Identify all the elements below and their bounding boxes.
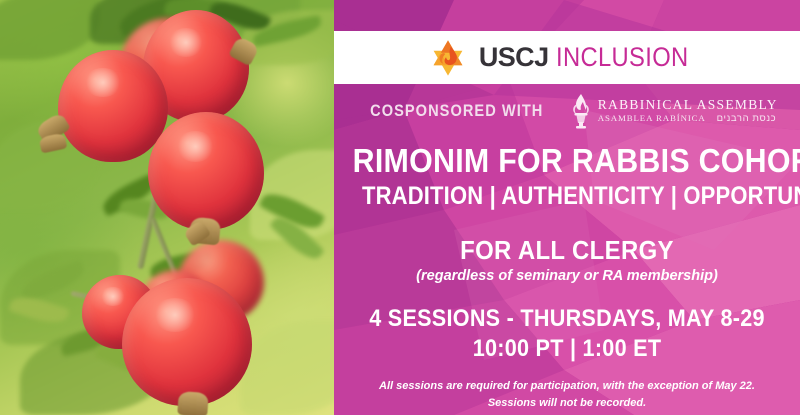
ra-name-he: כנסת הרבנים	[717, 114, 777, 124]
uscj-star-of-david-flame-icon	[428, 38, 468, 78]
fineprint: All sessions are required for participat…	[334, 378, 800, 412]
brand-band: USCJ INCLUSION	[334, 31, 800, 84]
panel-content: COSPONSORED WITH RABBINICAL ASSEMBLY	[334, 84, 800, 415]
headline: RIMONIM FOR RABBIS COHORT:	[353, 142, 782, 180]
ra-name-en: RABBINICAL ASSEMBLY	[598, 98, 778, 112]
info-panel: USCJ INCLUSION COSPONSORED WITH	[334, 0, 800, 415]
wordmark-inclusion: INCLUSION	[556, 44, 689, 71]
cosponsored-with-label: COSPONSORED WITH	[370, 101, 543, 121]
fineprint-line-2: Sessions will not be recorded.	[334, 395, 800, 412]
subheadline: TRADITION | AUTHENTICITY | OPPORTUNITY	[362, 182, 772, 211]
rabbinical-assembly-torch-icon	[570, 93, 592, 129]
fineprint-line-1: All sessions are required for participat…	[334, 378, 800, 395]
flyer-container: USCJ INCLUSION COSPONSORED WITH	[0, 0, 800, 415]
rabbinical-assembly-text: RABBINICAL ASSEMBLY ASAMBLEA RABÍNICA כנ…	[598, 98, 778, 124]
wordmark-uscj: USCJ	[479, 44, 549, 71]
uscj-inclusion-logo: USCJ INCLUSION	[428, 38, 706, 78]
pomegranate-photo	[0, 0, 334, 415]
ra-name-es: ASAMBLEA RABÍNICA	[598, 114, 706, 123]
rabbinical-assembly-logo: RABBINICAL ASSEMBLY ASAMBLEA RABÍNICA כנ…	[570, 93, 778, 129]
audience-note: (regardless of seminary or RA membership…	[334, 268, 800, 284]
wordmark: USCJ INCLUSION	[479, 44, 706, 71]
audience-line: FOR ALL CLERGY	[353, 235, 782, 266]
schedule-times: 10:00 PT | 1:00 ET	[357, 335, 776, 363]
cosponsor-row: COSPONSORED WITH RABBINICAL ASSEMBLY	[334, 93, 800, 129]
ra-name-alt-row: ASAMBLEA RABÍNICA כנסת הרבנים	[598, 114, 778, 124]
schedule-sessions: 4 SESSIONS - THURSDAYS, MAY 8-29	[357, 305, 776, 333]
